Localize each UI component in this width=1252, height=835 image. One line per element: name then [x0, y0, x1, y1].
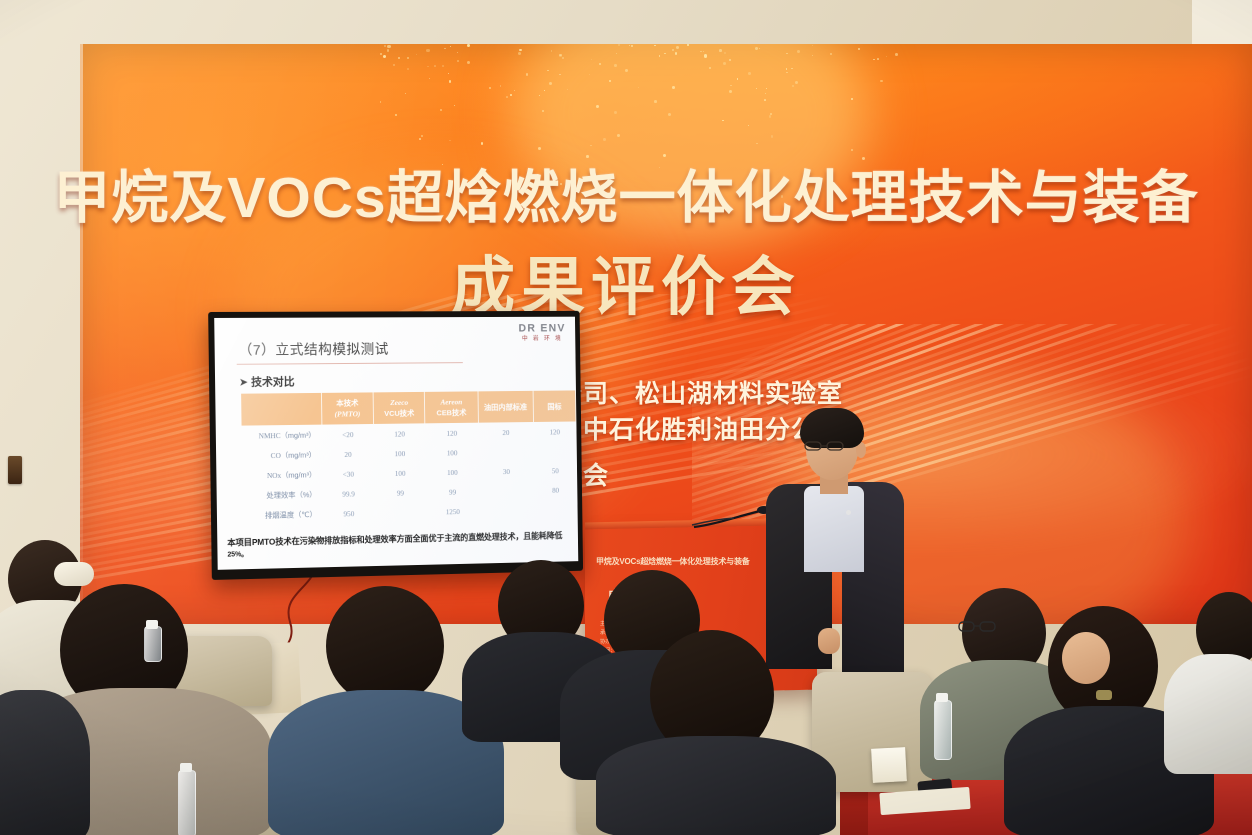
- table-header-cell-5: 国标: [533, 390, 576, 422]
- table-cell: [534, 500, 577, 520]
- header-top-label: 本技术: [324, 397, 372, 408]
- podium-title-line1: 甲烷及VOCs超焓燃烧一体化处理技术与装备: [596, 556, 750, 567]
- wristwatch-icon: [1096, 690, 1112, 700]
- table-cell: 1250: [426, 502, 479, 523]
- note-main-text: 本项目PMTO技术在污染物排放指标和处理效率方面全面优于主流的直燃处理技术，且能…: [227, 530, 562, 547]
- table-head: 本技术(PMTO)ZeecoVCU技术AereonCEB技术油田内部标准国标: [241, 390, 576, 425]
- header-top-label: Zeeco: [376, 397, 423, 408]
- technology-comparison-table: 本技术(PMTO)ZeecoVCU技术AereonCEB技术油田内部标准国标 N…: [241, 390, 578, 526]
- header-bottom-label: VCU技术: [376, 408, 423, 419]
- person-torso: [596, 736, 836, 835]
- screen-bezel: DR ENV 中 岩 环 境 （7）立式结构模拟测试 ➤ 技术对比 本技术(PM…: [208, 311, 583, 580]
- table-header-cell-1: 本技术(PMTO): [321, 392, 374, 424]
- person-torso: [0, 690, 90, 835]
- table-cell: [479, 481, 535, 502]
- table-cell: 30: [479, 461, 535, 482]
- table-cell: 100: [425, 442, 478, 463]
- table-body: NMHC（mg/m³）<2012012020120CO（mg/m³）201001…: [242, 421, 578, 526]
- eyeglasses-icon: [804, 440, 850, 452]
- row-label: NMHC（mg/m³）: [242, 425, 322, 446]
- table-cell: 100: [374, 443, 426, 464]
- header-top-label: 油田内部标准: [480, 401, 531, 412]
- bullet-arrow-icon: ➤: [239, 377, 248, 389]
- bottle-cap: [146, 620, 158, 629]
- person-torso: [1164, 654, 1252, 774]
- slide-title: （7）立式结构模拟测试: [238, 339, 389, 360]
- table-cell: [375, 503, 427, 524]
- speaker-shirt: [804, 486, 864, 572]
- table-cell: 120: [533, 421, 576, 441]
- table-cell: 99.9: [322, 484, 375, 505]
- speaker-hand: [818, 628, 840, 654]
- table-cell: 20: [322, 444, 375, 465]
- table-cell: <30: [322, 464, 375, 485]
- logo-wordmark: DR ENV: [518, 324, 565, 335]
- water-bottle: [934, 700, 952, 760]
- table-cell: 20: [478, 422, 534, 442]
- row-label: 排烟温度（℃）: [243, 505, 323, 527]
- wall-fixture-icon: [8, 456, 22, 484]
- projection-screen: DR ENV 中 岩 环 境 （7）立式结构模拟测试 ➤ 技术对比 本技术(PM…: [208, 311, 583, 580]
- bottle-cap: [936, 693, 948, 702]
- conference-photo-scene: 甲烷及VOCs超焓燃烧一体化处理技术与装备 成果评价会 有限公司、松山湖材料实验…: [0, 0, 1252, 835]
- bottle-cap: [180, 763, 192, 772]
- banner-left-edge: [80, 44, 83, 624]
- slide-conclusion-note: 本项目PMTO技术在污染物排放指标和处理效率方面全面优于主流的直燃处理技术，且能…: [227, 530, 570, 559]
- table-cell: [478, 442, 534, 463]
- table-name-card: [871, 747, 907, 783]
- table-header-cell-0: [241, 393, 321, 426]
- table-cell: 99: [426, 482, 479, 503]
- table-cell: [534, 441, 577, 461]
- company-logo: DR ENV 中 岩 环 境: [518, 324, 565, 343]
- row-label: 处理效率（%）: [242, 485, 322, 507]
- header-top-label: 国标: [535, 401, 573, 412]
- table-cell: <20: [321, 424, 374, 445]
- table-header-cell-3: AereonCEB技术: [425, 391, 478, 423]
- note-tail-text: 25%。: [227, 551, 248, 558]
- table-cell: 80: [534, 480, 577, 500]
- table-header-row: 本技术(PMTO)ZeecoVCU技术AereonCEB技术油田内部标准国标: [241, 390, 576, 425]
- person-hand-on-face: [1062, 632, 1110, 684]
- person-head: [326, 586, 444, 706]
- speaker-figure: [760, 404, 916, 704]
- hair-scrunchie: [54, 562, 94, 586]
- slide-surface: DR ENV 中 岩 环 境 （7）立式结构模拟测试 ➤ 技术对比 本技术(PM…: [214, 317, 578, 570]
- slide-bullet-heading: ➤ 技术对比: [239, 373, 295, 389]
- table-header-cell-4: 油田内部标准: [478, 391, 534, 423]
- table-cell: 100: [374, 463, 426, 484]
- header-bottom-label: CEB技术: [427, 407, 475, 418]
- bullet-label: 技术对比: [251, 376, 295, 388]
- speaker-lapel-pin: [846, 510, 851, 515]
- table-cell: 120: [374, 423, 426, 444]
- slide-title-underline: [237, 362, 463, 365]
- table-cell: [479, 501, 535, 522]
- table-cell: 100: [426, 462, 479, 483]
- banner-title: 甲烷及VOCs超焓燃烧一体化处理技术与装备: [0, 152, 1252, 234]
- header-top-label: Aereon: [427, 396, 475, 407]
- logo-subtext: 中 岩 环 境: [519, 336, 566, 342]
- table-cell: 120: [425, 423, 478, 443]
- water-bottle: [144, 626, 162, 662]
- header-bottom-label: (PMTO): [324, 408, 372, 419]
- eyeglasses-icon: [958, 620, 1002, 634]
- table-cell: 950: [323, 504, 376, 525]
- row-label: CO（mg/m³）: [242, 445, 322, 466]
- table-header-cell-2: ZeecoVCU技术: [373, 392, 425, 424]
- row-label: NOx（mg/m³）: [242, 465, 322, 486]
- water-bottle: [178, 770, 196, 835]
- table-cell: 99: [375, 483, 427, 504]
- table-cell: 50: [534, 461, 577, 481]
- banner-subtitle: 成果评价会: [0, 236, 1252, 328]
